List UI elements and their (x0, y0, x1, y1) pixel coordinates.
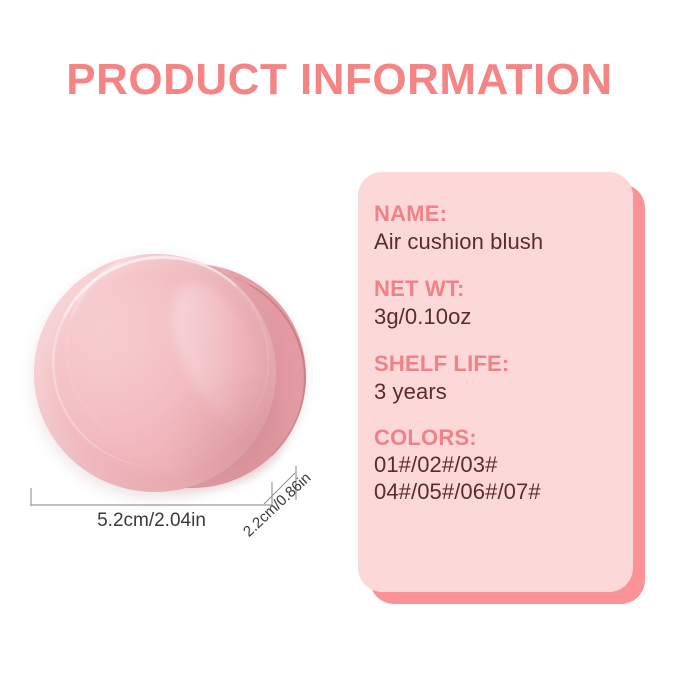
field-name: NAME: Air cushion blush (374, 200, 633, 257)
field-colors-value-line-2: 04#/05#/06#/07# (374, 479, 633, 506)
field-name-label: NAME: (374, 200, 633, 228)
page-title: PRODUCT INFORMATION (0, 55, 679, 105)
width-dimension-label: 5.2cm/2.04in (31, 510, 272, 532)
field-net-weight-label: NET WT: (374, 275, 633, 303)
field-net-weight-value: 3g/0.10oz (374, 303, 633, 332)
field-shelf-life-label: SHELF LIFE: (374, 350, 633, 378)
field-shelf-life-value: 3 years (374, 378, 633, 407)
field-shelf-life: SHELF LIFE: 3 years (374, 350, 633, 407)
product-image (30, 248, 320, 508)
field-name-value: Air cushion blush (374, 228, 633, 257)
field-net-weight: NET WT: 3g/0.10oz (374, 275, 633, 332)
field-colors-label: COLORS: (374, 424, 633, 452)
field-colors-value-line-1: 01#/02#/03# (374, 452, 633, 479)
field-colors: COLORS: 01#/02#/03# 04#/05#/06#/07# (374, 424, 633, 506)
info-card: NAME: Air cushion blush NET WT: 3g/0.10o… (358, 172, 633, 592)
